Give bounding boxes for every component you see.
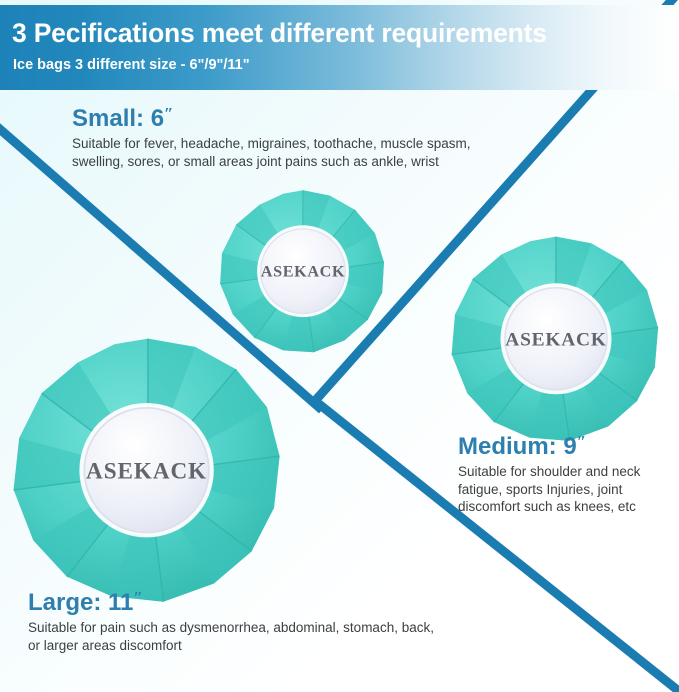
section-medium-heading: Medium: 9″ — [458, 432, 673, 461]
bag-cap-small: ASEKACK — [257, 225, 349, 317]
product-image-large-ice-bag: ASEKACK — [8, 333, 288, 613]
page-subtitle: Ice bags 3 different size - 6"/9"/11" — [13, 57, 250, 73]
section-large-heading: Large: 11″ — [28, 588, 528, 617]
section-medium: Medium: 9″ Suitable for shoulder and nec… — [458, 432, 673, 516]
product-image-medium-ice-bag: ASEKACK — [445, 230, 667, 452]
product-infographic: 3 Pecifications meet different requireme… — [0, 0, 679, 692]
section-small-label: Small: 6 — [72, 105, 164, 132]
section-medium-label: Medium: 9 — [458, 433, 577, 460]
section-small-heading: Small: 6″ — [72, 104, 572, 133]
section-small: Small: 6″ Suitable for fever, headache, … — [72, 104, 572, 170]
inch-mark-small: ″ — [164, 104, 173, 123]
header-banner: 3 Pecifications meet different requireme… — [0, 5, 679, 90]
page-title: 3 Pecifications meet different requireme… — [12, 18, 547, 49]
section-small-description: Suitable for fever, headache, migraines,… — [72, 135, 572, 170]
brand-label-medium: ASEKACK — [505, 329, 606, 350]
brand-label-small: ASEKACK — [261, 263, 345, 281]
section-large-label: Large: 11 — [28, 589, 133, 616]
section-medium-description: Suitable for shoulder and neck fatigue, … — [458, 463, 673, 516]
brand-label-large: ASEKACK — [86, 458, 207, 484]
section-large: Large: 11″ Suitable for pain such as dys… — [28, 588, 528, 654]
inch-mark-medium: ″ — [577, 432, 586, 451]
inch-mark-large: ″ — [133, 588, 142, 607]
section-large-description: Suitable for pain such as dysmenorrhea, … — [28, 619, 528, 654]
bag-cap-medium: ASEKACK — [501, 283, 612, 394]
bag-cap-large: ASEKACK — [79, 403, 213, 537]
